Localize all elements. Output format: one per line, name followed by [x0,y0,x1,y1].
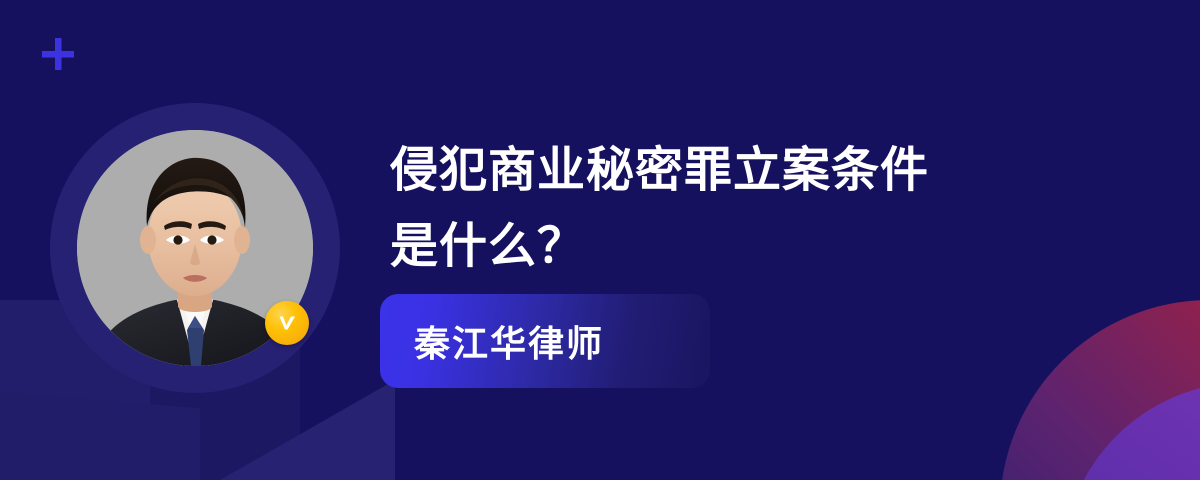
avatar [50,103,340,393]
plus-icon [42,38,74,70]
video-cover-card: 侵犯商业秘密罪立案条件 是什么？ 秦江华律师 [0,0,1200,480]
author-badge[interactable]: 秦江华律师 [380,294,710,388]
author-name-label: 秦江华律师 [380,315,604,367]
verified-badge [265,301,309,345]
page-title: 侵犯商业秘密罪立案条件 是什么？ [390,133,1090,285]
